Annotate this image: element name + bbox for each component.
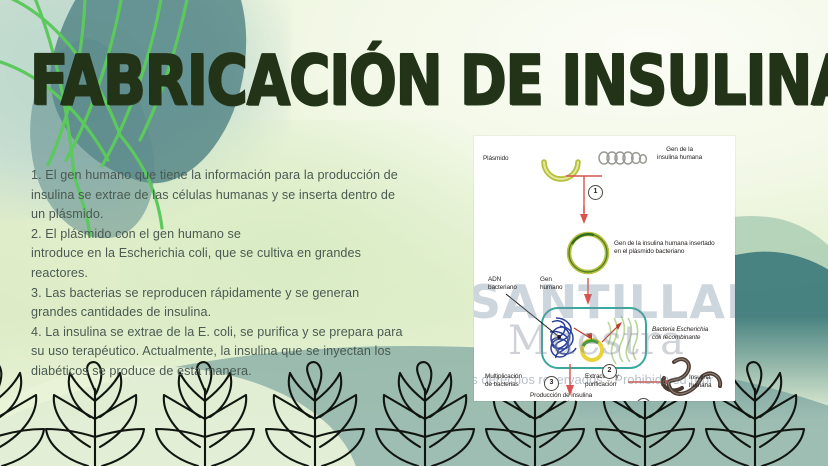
label-bacterial-dna: ADN bacteriano xyxy=(488,276,517,292)
label-human-insulin: Insulina humana xyxy=(689,374,712,390)
label-gene-inserted: Gen de la insulina humana insertado en e… xyxy=(614,240,732,256)
step-badge-1: 1 xyxy=(588,185,603,200)
page-title: FABRICACIÓN DE INSULINA xyxy=(30,48,790,116)
step-badge-3: 3 xyxy=(544,376,559,391)
body-paragraph: 1. El gen humano que tiene la informació… xyxy=(31,166,446,382)
label-plasmid: Plásmido xyxy=(483,155,508,163)
label-insulin-production: Producción de insulina en gran cantidad xyxy=(530,392,592,401)
label-human-gene: Gen humano xyxy=(540,276,563,292)
diagram-graphics xyxy=(474,136,735,401)
label-bacteria-multiplication: Multiplicación de bacterias xyxy=(485,373,522,389)
slide-canvas: FABRICACIÓN DE INSULINA 1. El gen humano… xyxy=(0,0,828,466)
label-human-insulin-gene: Gen de la insulina humana xyxy=(657,146,702,162)
label-recombinant-bacteria: Bacteria Escherichia coli recombinante xyxy=(652,326,734,342)
insulin-production-diagram: SANTILLANA Muestra os derechos reservado… xyxy=(474,136,735,401)
step-badge-2: 2 xyxy=(602,364,617,379)
